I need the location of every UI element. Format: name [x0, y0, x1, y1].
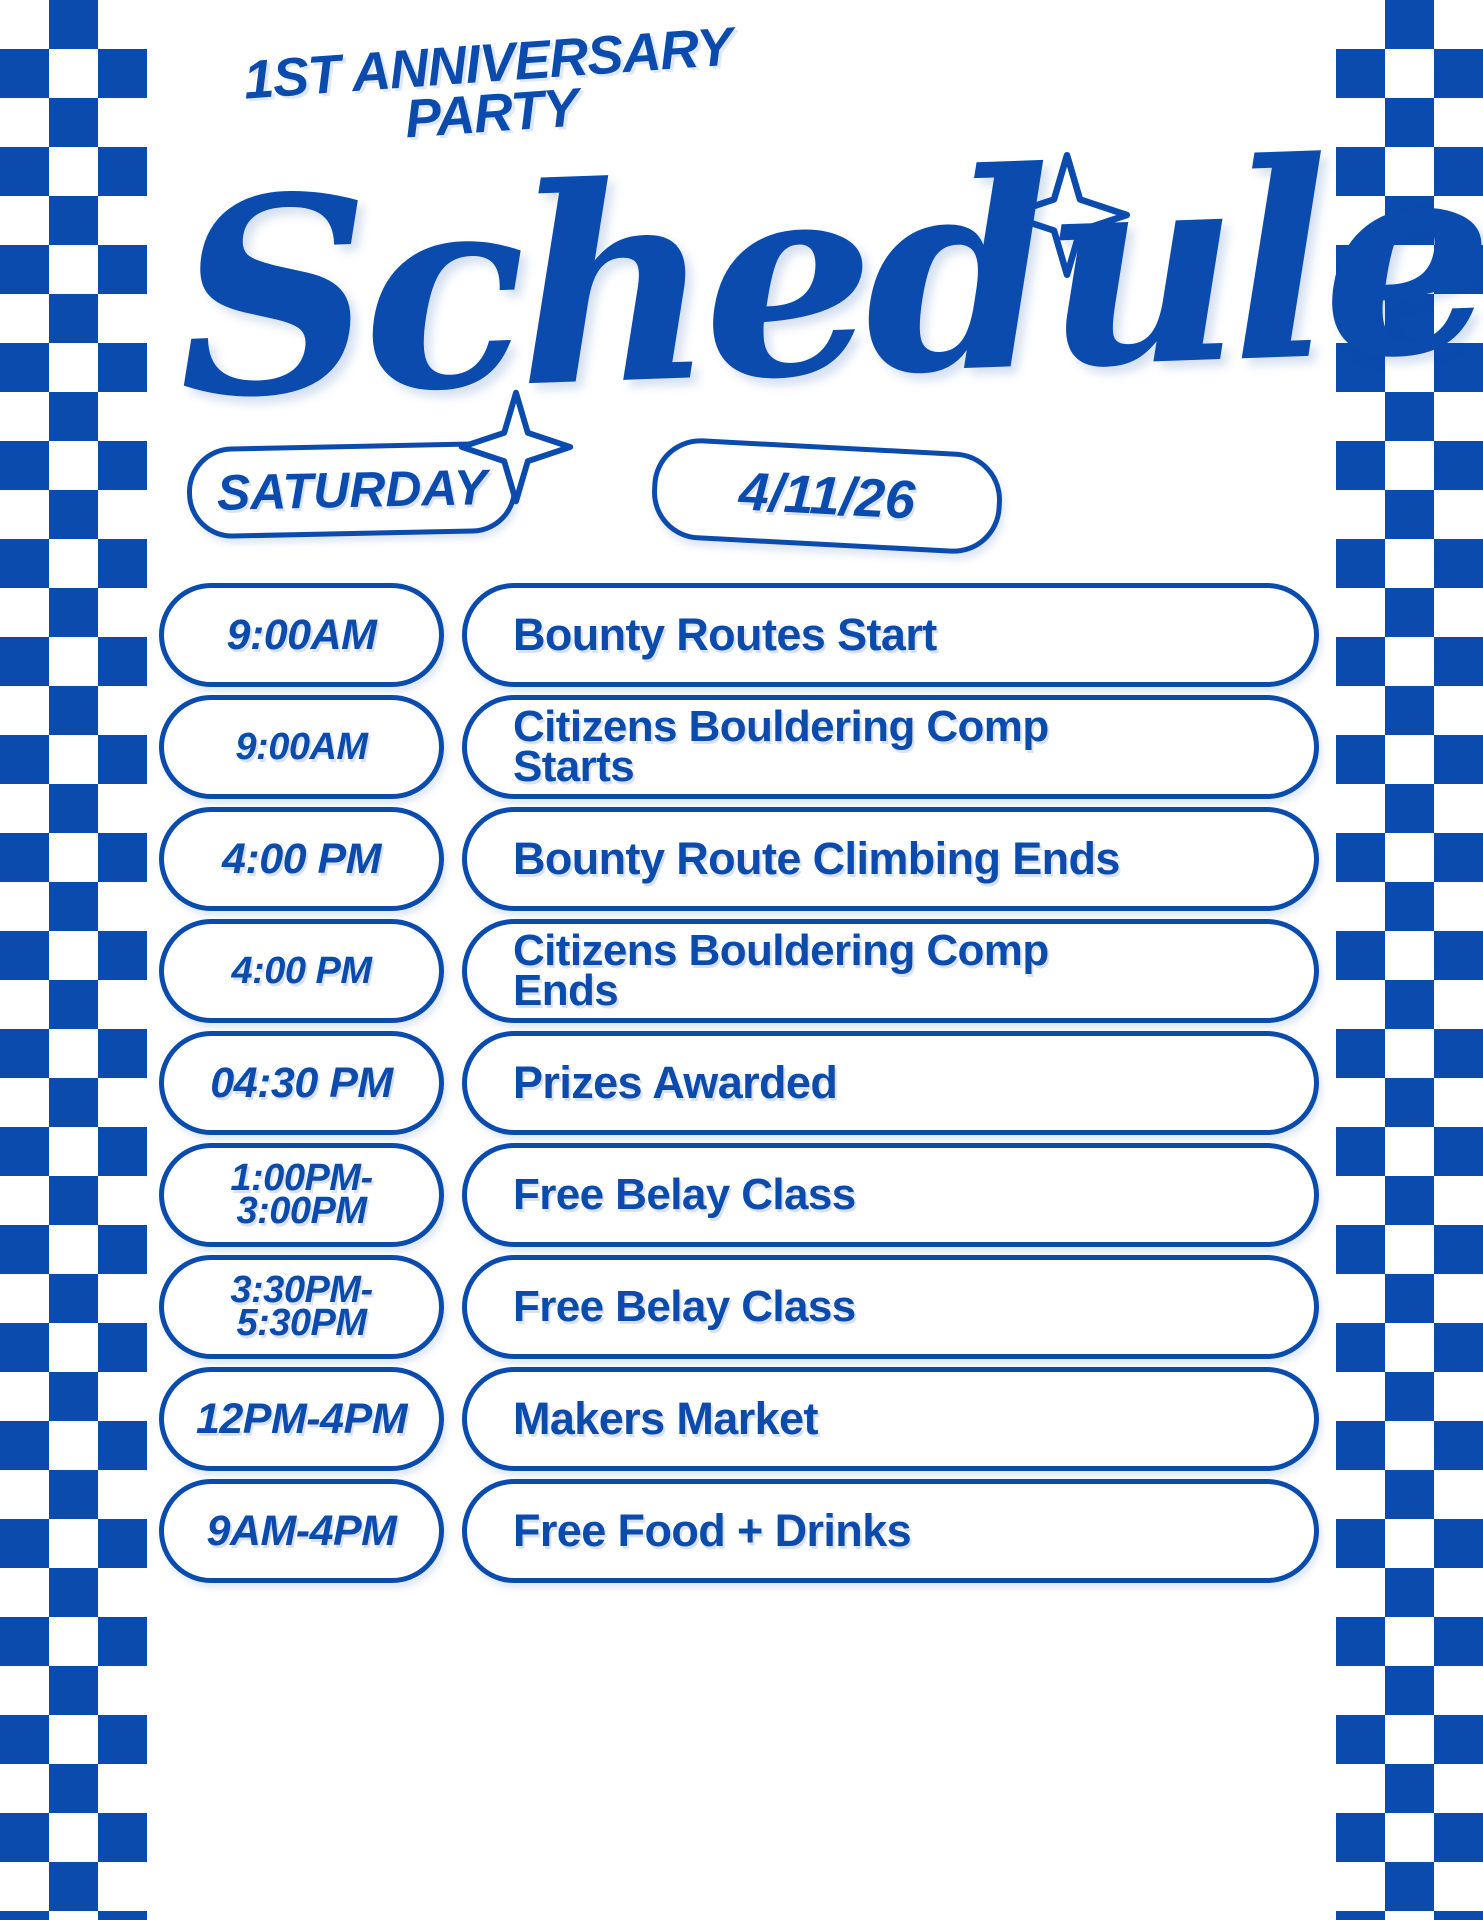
time-label: 04:30 PM — [210, 1065, 392, 1102]
event-pill: Citizens Bouldering Comp Starts — [462, 695, 1319, 799]
time-label: 4:00 PM — [222, 841, 381, 878]
event-label: Citizens Bouldering Comp Starts — [513, 707, 1049, 788]
time-label: 12PM-4PM — [196, 1401, 407, 1438]
time-pill: 4:00 PM — [159, 807, 444, 911]
time-pill: 4:00 PM — [159, 919, 444, 1023]
schedule-row: 9AM-4PMFree Food + Drinks — [159, 1479, 1319, 1583]
event-pill: Bounty Routes Start — [462, 583, 1319, 687]
poster-canvas: 1ST ANNIVERSARY PARTY Schedule SATURDAY … — [0, 0, 1483, 1920]
time-pill: 9AM-4PM — [159, 1479, 444, 1583]
time-pill: 3:30PM- 5:30PM — [159, 1255, 444, 1359]
schedule-row: 04:30 PMPrizes Awarded — [159, 1031, 1319, 1135]
time-label: 9AM-4PM — [206, 1513, 396, 1550]
schedule-row: 9:00AMCitizens Bouldering Comp Starts — [159, 695, 1319, 799]
event-pill: Bounty Route Climbing Ends — [462, 807, 1319, 911]
event-pill: Makers Market — [462, 1367, 1319, 1471]
event-label: Free Belay Class — [513, 1175, 856, 1215]
schedule-row: 12PM-4PMMakers Market — [159, 1367, 1319, 1471]
time-label: 9:00AM — [235, 731, 367, 764]
event-pill: Free Food + Drinks — [462, 1479, 1319, 1583]
time-pill: 1:00PM- 3:00PM — [159, 1143, 444, 1247]
time-label: 4:00 PM — [231, 955, 371, 988]
checkerboard-border-left — [0, 0, 147, 1920]
date-label: 4/11/26 — [737, 460, 916, 531]
event-pill: Free Belay Class — [462, 1255, 1319, 1359]
time-label: 9:00AM — [227, 617, 377, 654]
event-label: Free Food + Drinks — [513, 1510, 911, 1551]
event-label: Bounty Routes Start — [513, 614, 937, 655]
schedule-list: 9:00AMBounty Routes Start9:00AMCitizens … — [159, 583, 1319, 1591]
time-pill: 12PM-4PM — [159, 1367, 444, 1471]
day-label: SATURDAY — [216, 458, 488, 522]
schedule-row: 3:30PM- 5:30PMFree Belay Class — [159, 1255, 1319, 1359]
time-label: 1:00PM- 3:00PM — [230, 1162, 372, 1227]
page-title: Schedule — [173, 135, 1062, 436]
time-pill: 9:00AM — [159, 583, 444, 687]
event-pill: Free Belay Class — [462, 1143, 1319, 1247]
sparkle-icon — [1002, 150, 1132, 280]
event-label: Bounty Route Climbing Ends — [513, 838, 1120, 879]
time-pill: 9:00AM — [159, 695, 444, 799]
schedule-row: 1:00PM- 3:00PMFree Belay Class — [159, 1143, 1319, 1247]
schedule-row: 4:00 PMCitizens Bouldering Comp Ends — [159, 919, 1319, 1023]
event-pill: Prizes Awarded — [462, 1031, 1319, 1135]
event-label: Prizes Awarded — [513, 1062, 837, 1103]
event-pill: Citizens Bouldering Comp Ends — [462, 919, 1319, 1023]
poster-content: 1ST ANNIVERSARY PARTY Schedule SATURDAY … — [147, 0, 1336, 1920]
event-label: Makers Market — [513, 1398, 818, 1439]
schedule-row: 9:00AMBounty Routes Start — [159, 583, 1319, 687]
sparkle-icon — [457, 388, 575, 506]
event-label: Citizens Bouldering Comp Ends — [513, 931, 1049, 1012]
event-label: Free Belay Class — [513, 1287, 856, 1327]
date-badge: 4/11/26 — [650, 436, 1005, 556]
time-pill: 04:30 PM — [159, 1031, 444, 1135]
schedule-row: 4:00 PMBounty Route Climbing Ends — [159, 807, 1319, 911]
time-label: 3:30PM- 5:30PM — [230, 1274, 372, 1339]
